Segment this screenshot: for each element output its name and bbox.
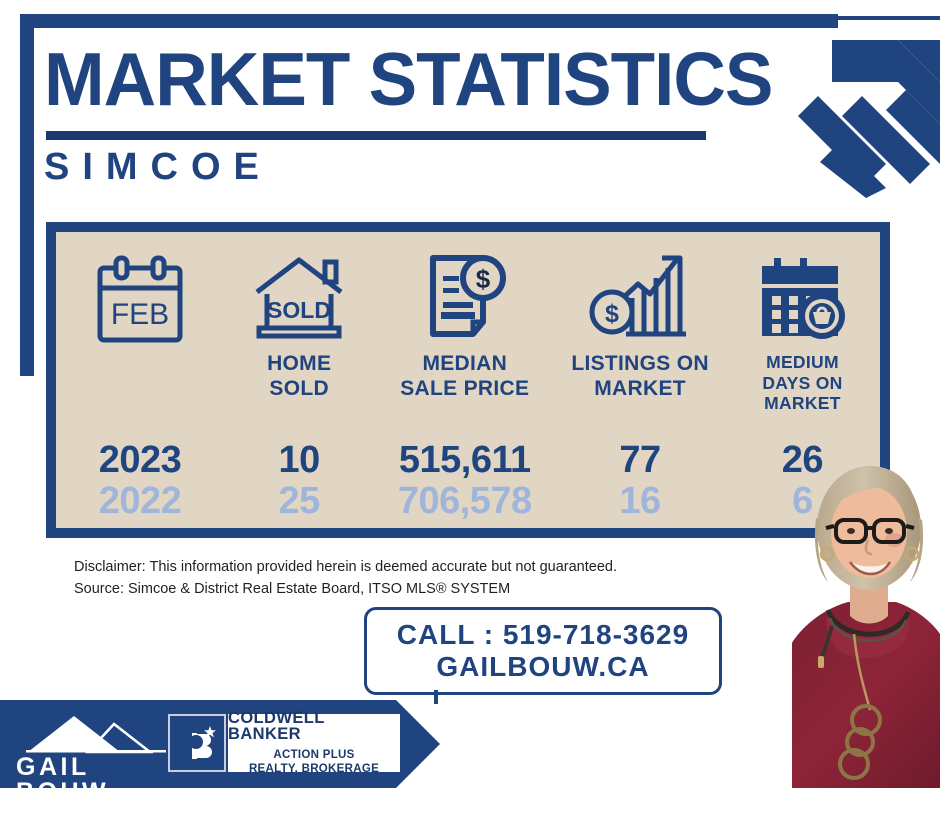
calendar-basket-icon [754, 248, 850, 352]
stat-caption-line1: LISTINGS ON [571, 352, 708, 377]
stat-caption-line3: MARKET [764, 393, 841, 414]
stat-value-listings: 77 16 [555, 440, 725, 522]
value-previous: 16 [555, 481, 725, 522]
stat-caption-line2: DAYS ON [762, 373, 842, 394]
page-title: MARKET STATISTICS [44, 42, 773, 117]
website-url[interactable]: GAILBOUW.CA [436, 651, 649, 683]
mountain-logo-icon [16, 712, 176, 754]
value-previous: 706,578 [374, 481, 555, 522]
bar-chart-growth-dollar-icon: $ [588, 248, 692, 352]
agent-brand: GAIL BOUW REAL ESTATE AGENT [16, 712, 176, 821]
footer-rule-line [404, 16, 940, 20]
agent-role: REAL ESTATE AGENT [16, 810, 176, 821]
svg-text:FEB: FEB [111, 298, 169, 331]
document-dollar-icon: $ [415, 248, 515, 352]
value-previous: 25 [224, 481, 374, 522]
value-current: 10 [224, 440, 374, 481]
phone-number[interactable]: CALL : 519-718-3629 [397, 619, 689, 651]
statistics-panel: FEB SOLD HOME SOLD [46, 222, 890, 538]
title-underline [46, 131, 706, 140]
brokerage-line2: REALTY, BROKERAGE [249, 763, 379, 777]
brokerage-line1: ACTION PLUS [273, 749, 354, 763]
stat-caption-line1: HOME [267, 352, 331, 377]
stat-caption-line2: SOLD [269, 377, 329, 402]
contact-cta-box[interactable]: CALL : 519-718-3629 GAILBOUW.CA [364, 607, 722, 695]
value-current: 515,611 [374, 440, 555, 481]
disclaimer-line-2: Source: Simcoe & District Real Estate Bo… [74, 578, 617, 600]
brokerage-text-block: COLDWELL BANKER ACTION PLUS REALTY, BROK… [228, 714, 400, 772]
house-sold-icon: SOLD [249, 248, 349, 352]
agent-headshot-photo [792, 458, 940, 788]
agent-name: GAIL BOUW [16, 755, 176, 805]
value-previous-year: 2022 [56, 481, 224, 522]
disclaimer-text: Disclaimer: This information provided he… [74, 556, 617, 601]
calendar-feb-icon: FEB [88, 248, 192, 352]
svg-text:$: $ [605, 300, 619, 328]
stat-values-rows: 2023 2022 10 25 515,611 706,578 77 16 26… [56, 440, 880, 522]
svg-text:SOLD: SOLD [267, 297, 331, 323]
chevron-right-striped-icon [790, 38, 940, 198]
stat-caption-line1: MEDIUM [766, 352, 839, 373]
frame-left-bar [20, 14, 34, 376]
coldwell-banker-cb-star-icon [168, 714, 226, 772]
stat-value-median-price: 515,611 706,578 [374, 440, 555, 522]
value-current-year: 2023 [56, 440, 224, 481]
stat-value-home-sold: 10 25 [224, 440, 374, 522]
page-subtitle: SIMCOE [44, 148, 272, 186]
stat-caption-line1: MEDIAN [422, 352, 507, 377]
brokerage-name: COLDWELL BANKER [228, 710, 400, 743]
stat-value-month: 2023 2022 [56, 440, 224, 522]
value-current: 77 [555, 440, 725, 481]
stat-caption-line2: SALE PRICE [400, 377, 529, 402]
svg-text:$: $ [476, 264, 491, 294]
stat-caption-line2: MARKET [594, 377, 686, 402]
disclaimer-line-1: Disclaimer: This information provided he… [74, 556, 617, 578]
